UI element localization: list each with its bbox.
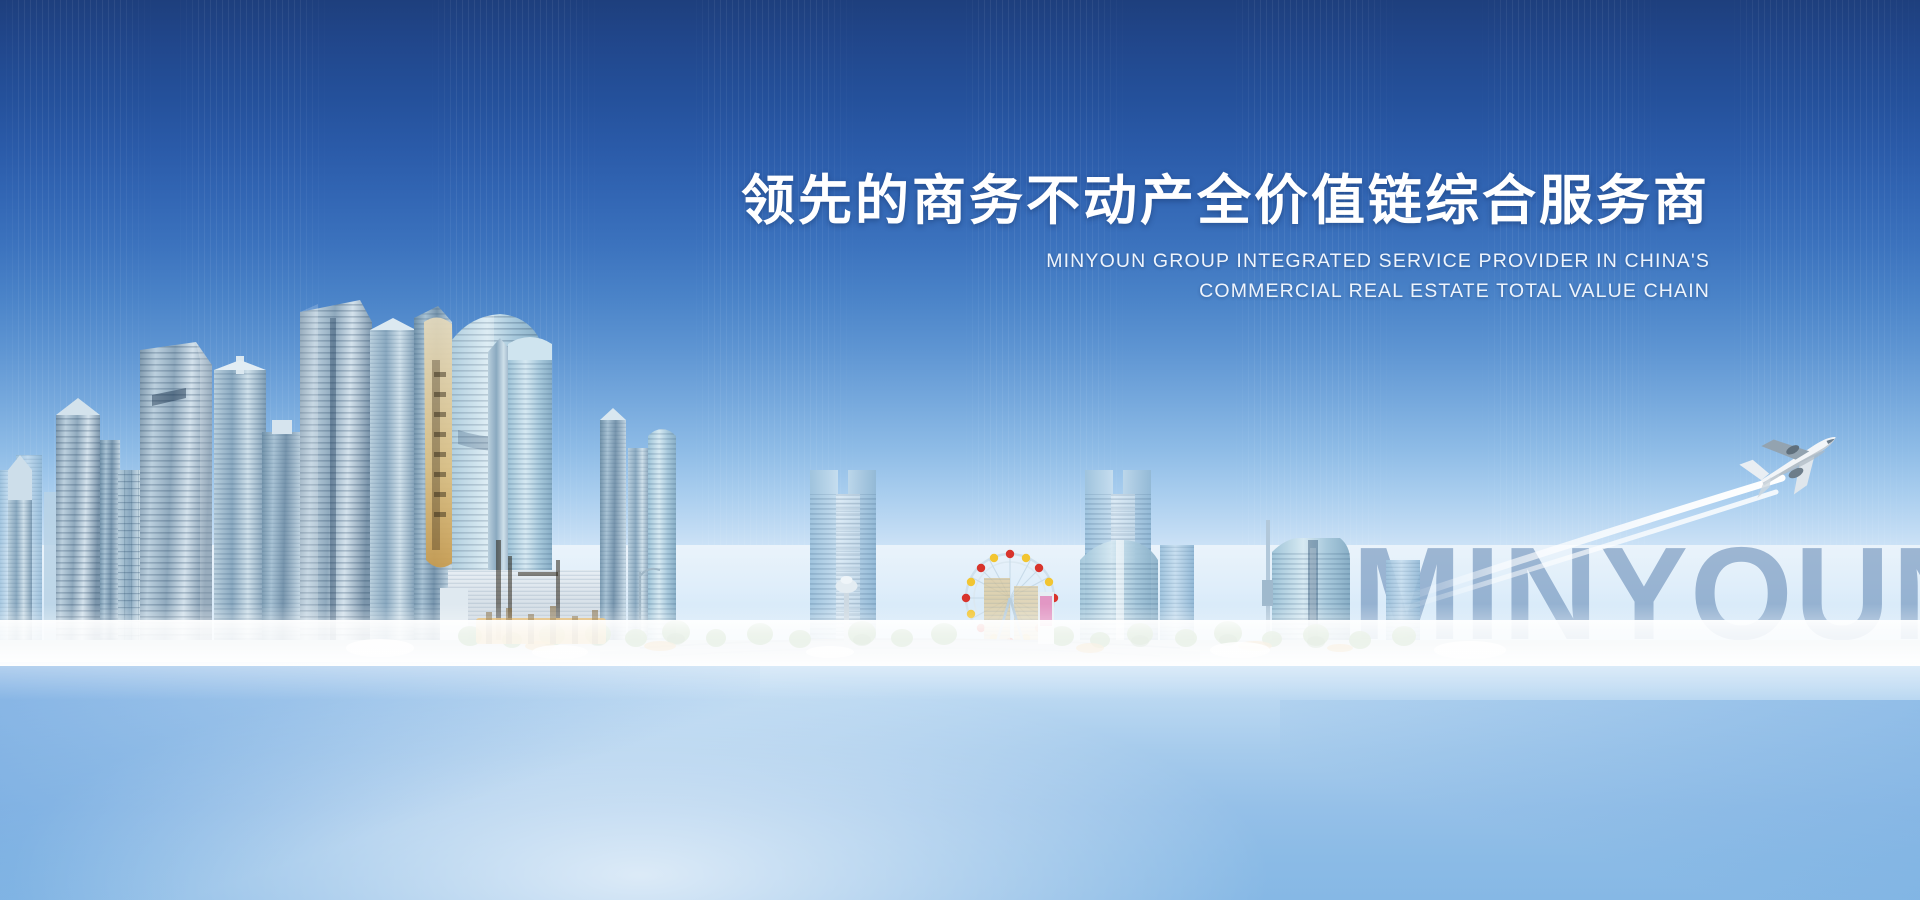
hero-headline-chinese: 领先的商务不动产全价值链综合服务商 [700, 170, 1710, 232]
hero-text-block: 领先的商务不动产全价值链综合服务商 MINYOUN GROUP INTEGRAT… [700, 170, 1710, 307]
city-skyline [0, 0, 1920, 900]
hero-subtitle-line-2: COMMERCIAL REAL ESTATE TOTAL VALUE CHAIN [700, 276, 1710, 306]
hero-subtitle-english: MINYOUN GROUP INTEGRATED SERVICE PROVIDE… [700, 246, 1710, 306]
horizon-mist-band [0, 620, 1920, 700]
hero-subtitle-line-1: MINYOUN GROUP INTEGRATED SERVICE PROVIDE… [700, 246, 1710, 276]
minyoun-hero-banner: MINYOUN [0, 0, 1920, 900]
